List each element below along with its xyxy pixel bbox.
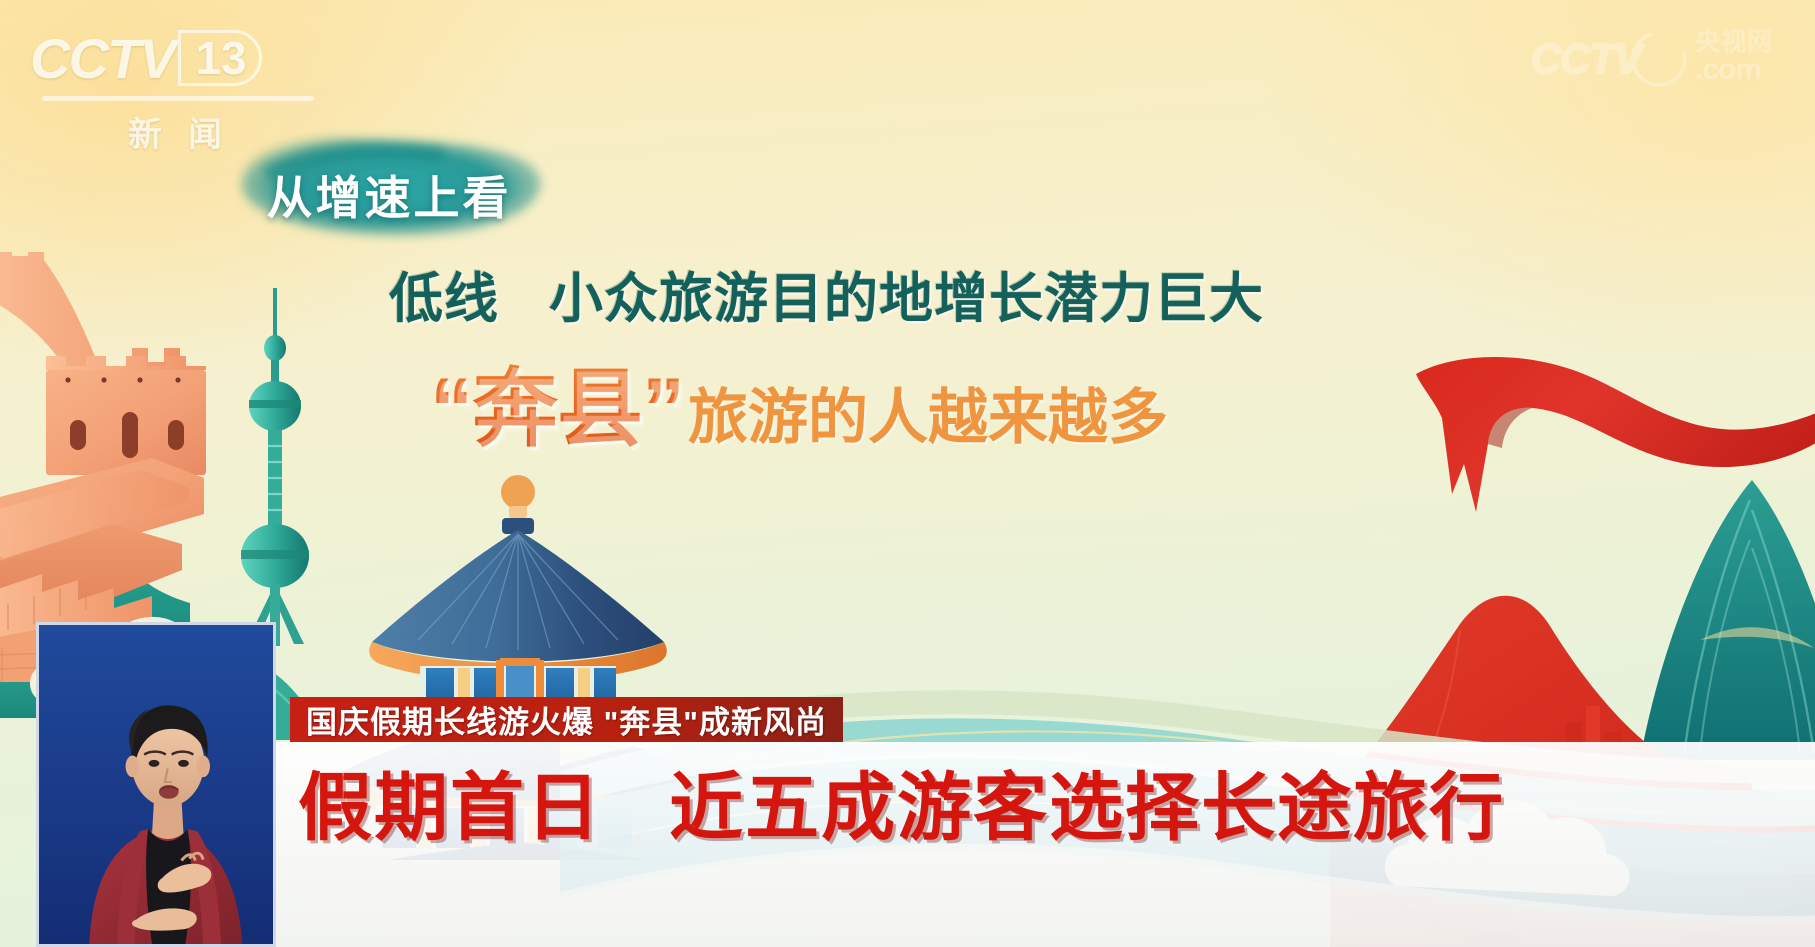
graphic-line2-part-a: 低线 <box>389 269 499 329</box>
headline-part-a: 假期首日 <box>298 766 602 849</box>
topic-bar: 国庆假期长线游火爆 "奔县"成新风尚 <box>290 697 843 742</box>
watermark-ring-icon <box>1621 21 1697 97</box>
channel-logo: CCTV 13 新闻 <box>30 22 320 142</box>
watercolor-blob-banner: 从增速上看 <box>214 128 559 248</box>
graphic-line3-highlight: “奔县” <box>430 338 684 463</box>
headline-part-b: 近五成游客选择长途旅行 <box>669 766 1505 849</box>
channel-logo-number: 13 <box>178 30 261 86</box>
broadcast-screen: CCTV 13 新闻 CCTV 央视网 .com <box>0 0 1815 947</box>
graphic-headline-line3: “奔县” 旅游的人越来越多 <box>430 338 1168 463</box>
cctv-dot-com-watermark: CCTV 央视网 .com <box>1531 30 1773 87</box>
sign-language-interpreter-box <box>36 622 276 947</box>
watermark-cctv-text: CCTV <box>1531 35 1641 83</box>
graphic-kicker-label: 从增速上看 <box>244 162 534 228</box>
graphic-line3-tail: 旅游的人越来越多 <box>688 369 1168 456</box>
watermark-com-text: .com <box>1695 55 1773 85</box>
graphic-headline-line2: 低线 小众旅游目的地增长潜力巨大 <box>389 254 1264 333</box>
sign-language-interpreter-figure <box>39 625 273 944</box>
topic-bar-text: 国庆假期长线游火爆 "奔县"成新风尚 <box>306 697 827 742</box>
graphic-line2-part-b: 小众旅游目的地增长潜力巨大 <box>549 269 1264 329</box>
headline-text: 假期首日 近五成游客选择长途旅行 <box>298 748 1505 855</box>
watermark-cn-text: 央视网 <box>1695 30 1773 55</box>
channel-logo-cctv: CCTV <box>30 26 174 91</box>
channel-logo-underbar <box>42 96 314 101</box>
